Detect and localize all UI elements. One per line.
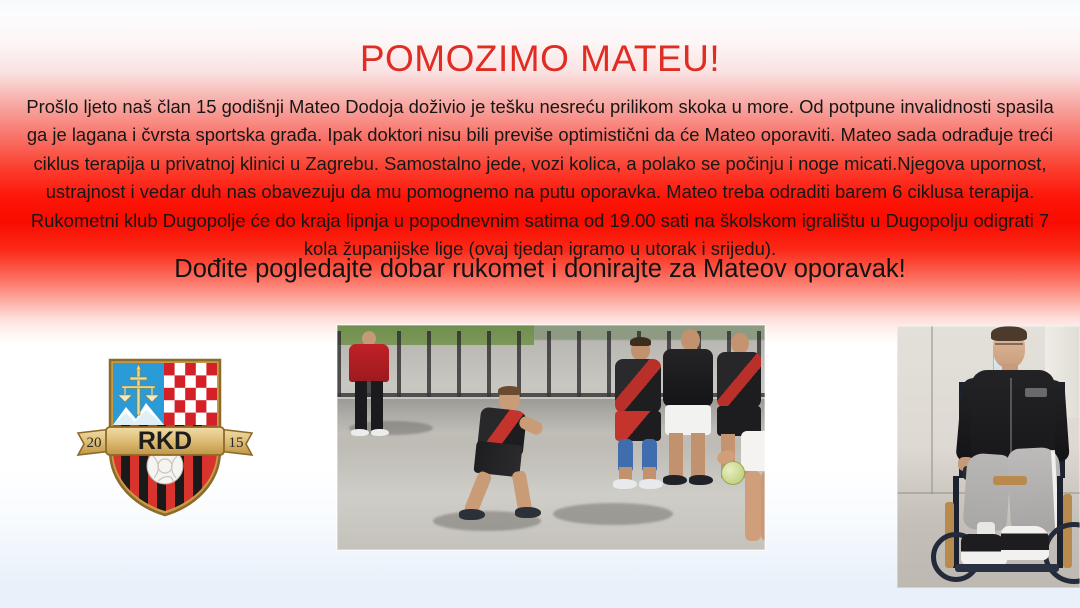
crest-monogram-text: RKD	[138, 427, 192, 455]
crest-year-left-text: 20	[87, 435, 102, 451]
handball-ball	[721, 461, 745, 485]
poster-canvas: POMOZIMO MATEU! Prošlo ljeto naš član 15…	[0, 0, 1080, 608]
crest-blue-quarter	[113, 363, 164, 425]
wall-corner-edge	[931, 326, 933, 494]
person-left-leg	[962, 453, 1011, 532]
person-right-shoe	[1001, 526, 1049, 560]
page-title: POMOZIMO MATEU!	[0, 38, 1080, 80]
background-player	[345, 331, 393, 435]
mateo-wheelchair-photo	[897, 326, 1080, 588]
body-paragraph: Prošlo ljeto naš član 15 godišnji Mateo …	[14, 93, 1066, 263]
wheelchair-wood-trim	[993, 476, 1027, 485]
club-logo: 20 15 RKD	[72, 355, 258, 517]
player-shadow	[553, 503, 673, 525]
glasses-icon	[995, 343, 1023, 350]
hoodie-logo-patch	[1025, 388, 1047, 397]
crest-center-banner: RKD	[106, 427, 224, 455]
background-player	[659, 329, 721, 489]
player-with-ball	[731, 437, 765, 549]
person-hair	[991, 326, 1027, 341]
crest-checkerboard-quarter	[164, 363, 217, 425]
wheelchair-footplate	[955, 564, 1059, 572]
call-to-action-text: Dođite pogledajte dobar rukomet i donira…	[0, 252, 1080, 286]
handball-match-photo	[337, 325, 765, 550]
foreground-player	[475, 387, 549, 517]
crest-year-right-text: 15	[229, 435, 244, 451]
